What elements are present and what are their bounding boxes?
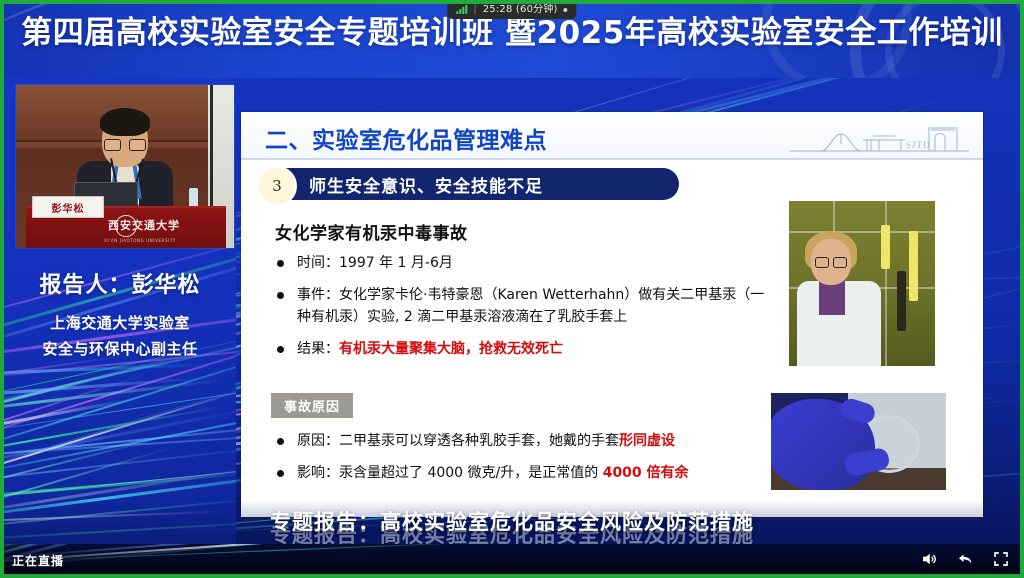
glove-photo-content [771,393,946,490]
slide-subsection-number: 3 [257,166,297,206]
cause-detail-item-key: 影响： [297,465,339,481]
chemist-inner-shirt [819,281,845,315]
slide-title: 二、实验室危化品管理难点 [265,121,547,155]
sjtu-logo-text: SJTU [906,140,931,150]
back-arrow-icon[interactable] [956,550,974,568]
player-bar-light-streaks [4,544,1020,574]
female-chemist-in-lab-photo [789,201,935,366]
cause-detail-item-highlight: 4000 倍有余 [603,465,689,481]
volume-icon[interactable] [920,550,938,568]
dot-icon [564,8,568,12]
speaker-nameplate: 彭华松 [32,196,104,218]
case-detail-item-key: 时间： [297,255,339,271]
lab-photo-content [789,201,935,366]
podium-university-name: 西安交通大学 [108,217,180,233]
session-time-label: 25:28 (60分钟) [483,5,558,15]
chemist-glasses-icon [815,257,847,266]
case-detail-item: 结果：有机汞大量聚集大脑，抢救无效死亡 [275,338,775,360]
status-separator: | [473,5,476,15]
player-controls-group [920,544,1010,574]
frame-border-right [1020,0,1024,578]
live-status-label: 正在直播 [12,552,64,569]
player-control-bar: 正在直播 [4,544,1020,574]
cause-detail-item: 原因：二甲基汞可以穿透各种乳胶手套，她戴的手套形同虚设 [275,430,775,452]
case-detail-item-value: 女化学家卡伦·韦特豪恩（Karen Wetterhahn）做有关二甲基汞（一种有… [297,287,764,325]
case-study-title: 女化学家有机汞中毒事故 [275,219,468,244]
case-detail-item: 时间：1997 年 1 月-6月 [275,252,775,274]
session-topic-text: 专题报告：高校实验室危化品安全风险及防范措施 [4,506,1020,536]
session-status-pill[interactable]: | 25:28 (60分钟) [447,0,576,19]
speaker-org-line-2: 安全与环保中心副主任 [4,336,236,362]
case-detail-item: 事件：女化学家卡伦·韦特豪恩（Karen Wetterhahn）做有关二甲基汞（… [275,284,775,328]
case-detail-item-key: 事件： [297,287,339,303]
cause-detail-item-value: 二甲基汞可以穿透各种乳胶手套，她戴的手套 [339,433,619,449]
sjtu-campus-skyline-logo-icon: SJTU [789,118,969,156]
slide-subsection-label: 师生安全意识、安全技能不足 [309,172,543,197]
speaker-name: 报告人：彭华松 [4,267,236,299]
cause-detail-item-key: 原因： [297,433,339,449]
slide-subsection-pill: 师生安全意识、安全技能不足 [263,168,679,200]
speaker-organization: 上海交通大学实验室 安全与环保中心副主任 [4,310,236,362]
session-topic-banner: 专题报告：高校实验室危化品安全风险及防范措施 专题报告：高校实验室危化品安全风险… [4,500,1020,544]
cause-section-tag: 事故原因 [271,393,353,418]
case-details-list: 时间：1997 年 1 月-6月事件：女化学家卡伦·韦特豪恩（Karen Wet… [275,252,775,370]
cause-details-list: 原因：二甲基汞可以穿透各种乳胶手套，她戴的手套形同虚设影响：汞含量超过了 400… [275,430,775,494]
speaker-glasses-icon [104,139,146,150]
case-detail-item-highlight: 有机汞大量聚集大脑，抢救无效死亡 [339,341,563,357]
case-detail-item-value: 1997 年 1 月-6月 [339,255,453,271]
case-detail-item-key: 结果： [297,341,339,357]
speaker-org-line-1: 上海交通大学实验室 [4,310,236,336]
cause-detail-item: 影响：汞含量超过了 4000 微克/升，是正常值的 4000 倍有余 [275,462,775,484]
cause-section-tag-label: 事故原因 [284,400,340,415]
podium-university-name-english: XI'AN JIAOTONG UNIVERSITY [104,238,176,243]
speaker-hair [100,108,150,136]
presentation-slide[interactable]: 二、实验室危化品管理难点 SJTU 师生安全意识、安全技能不足 3 女化学家有机… [241,112,983,517]
speaker-nameplate-text: 彭华松 [52,200,85,215]
signal-bars-icon [456,5,467,14]
frame-border-bottom [0,574,1024,578]
event-title: 第四届高校实验室安全专题培训班 暨2025年高校实验室安全工作培训 [4,18,1020,49]
cause-detail-item-highlight: 形同虚设 [619,433,675,449]
cause-detail-item-value: 汞含量超过了 4000 微克/升，是正常值的 [339,465,603,481]
fullscreen-icon[interactable] [992,550,1010,568]
blue-gloved-hand-petri-dish-photo [771,393,946,490]
speaker-camera-video[interactable]: 西安交通大学 XI'AN JIAOTONG UNIVERSITY 彭华松 [16,85,234,248]
live-stream-screen: 第四届高校实验室安全专题培训班 暨2025年高校实验室安全工作培训 | 25:2… [0,0,1024,578]
